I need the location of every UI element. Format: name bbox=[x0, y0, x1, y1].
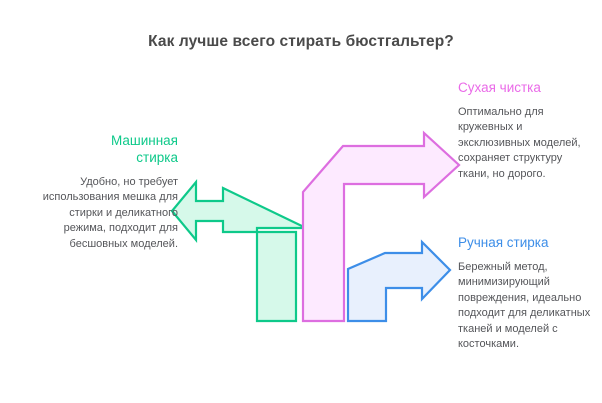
hand-wash-heading: Ручная стирка bbox=[458, 234, 594, 251]
dry-cleaning-block: Сухая чистка Оптимально для кружевных и … bbox=[458, 79, 590, 182]
hand-wash-arrow-shape bbox=[348, 242, 450, 321]
machine-wash-arrow-shape bbox=[172, 182, 306, 321]
hand-wash-block: Ручная стирка Бережный метод, минимизиру… bbox=[458, 234, 594, 352]
machine-wash-block: Машинная стирка Удобно, но требует испол… bbox=[36, 132, 178, 252]
machine-wash-body: Удобно, но требует использования мешка д… bbox=[36, 175, 178, 252]
dry-cleaning-heading: Сухая чистка bbox=[458, 79, 590, 96]
hand-wash-body: Бережный метод, минимизирующий поврежден… bbox=[458, 260, 594, 352]
infographic-page: Как лучше всего стирать бюстгальтер? Маш… bbox=[0, 0, 602, 403]
dry-cleaning-body: Оптимально для кружевных и эксклюзивных … bbox=[458, 105, 590, 182]
machine-wash-heading: Машинная стирка bbox=[36, 132, 178, 166]
